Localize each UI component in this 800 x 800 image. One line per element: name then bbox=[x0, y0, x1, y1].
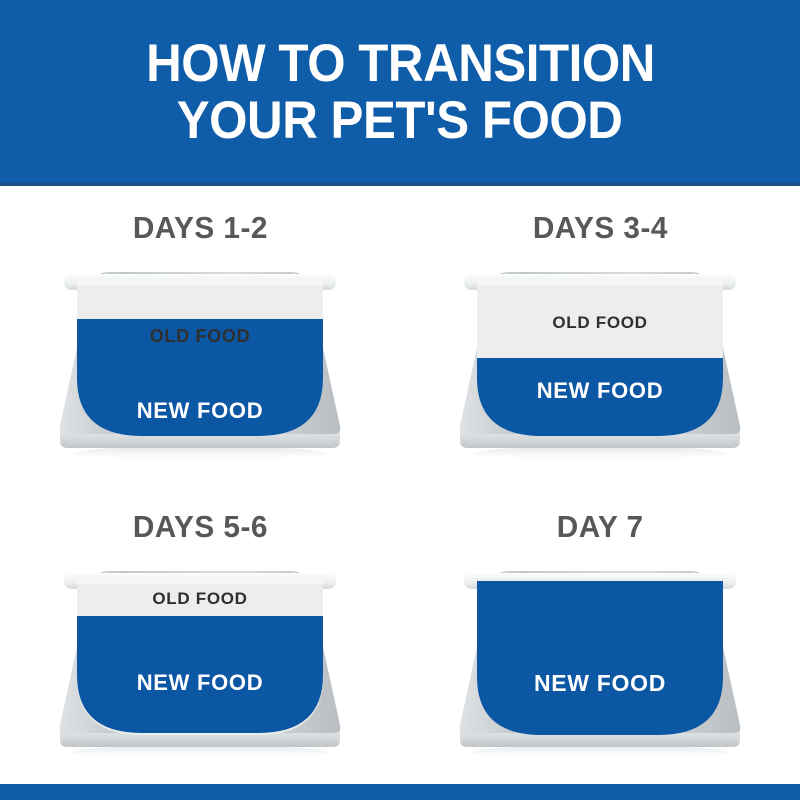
pet-bowl-icon: OLD FOOD NEW FOOD bbox=[30, 258, 370, 468]
step-title: DAYS 5-6 bbox=[132, 509, 267, 545]
bowl-illustration bbox=[30, 258, 370, 468]
step-title: DAY 7 bbox=[557, 509, 644, 545]
infographic-page: HOW TO TRANSITION YOUR PET'S FOOD DAYS 1… bbox=[0, 0, 800, 800]
new-food-fill bbox=[477, 581, 723, 735]
bowl-illustration bbox=[30, 557, 370, 767]
new-food-fill bbox=[477, 358, 723, 436]
step-day-7: DAY 7 bbox=[400, 485, 800, 784]
step-days-1-2: DAYS 1-2 bbox=[0, 186, 400, 485]
footer-bar bbox=[0, 784, 800, 800]
page-title-line-1: HOW TO TRANSITION bbox=[146, 35, 655, 92]
header-banner: HOW TO TRANSITION YOUR PET'S FOOD bbox=[0, 0, 800, 183]
new-food-fill bbox=[77, 319, 323, 436]
step-title: DAYS 3-4 bbox=[532, 210, 667, 246]
bowl-illustration bbox=[430, 557, 770, 767]
page-title-line-2: YOUR PET'S FOOD bbox=[177, 92, 623, 149]
new-food-fill bbox=[77, 616, 323, 733]
pet-bowl-icon: NEW FOOD bbox=[430, 557, 770, 767]
step-days-5-6: DAYS 5-6 bbox=[0, 485, 400, 784]
pet-bowl-icon: OLD FOOD NEW FOOD bbox=[430, 258, 770, 468]
step-days-3-4: DAYS 3-4 bbox=[400, 186, 800, 485]
bowl-illustration bbox=[430, 258, 770, 468]
pet-bowl-icon: OLD FOOD NEW FOOD bbox=[30, 557, 370, 767]
step-title: DAYS 1-2 bbox=[132, 210, 267, 246]
transition-steps-grid: DAYS 1-2 bbox=[0, 186, 800, 784]
